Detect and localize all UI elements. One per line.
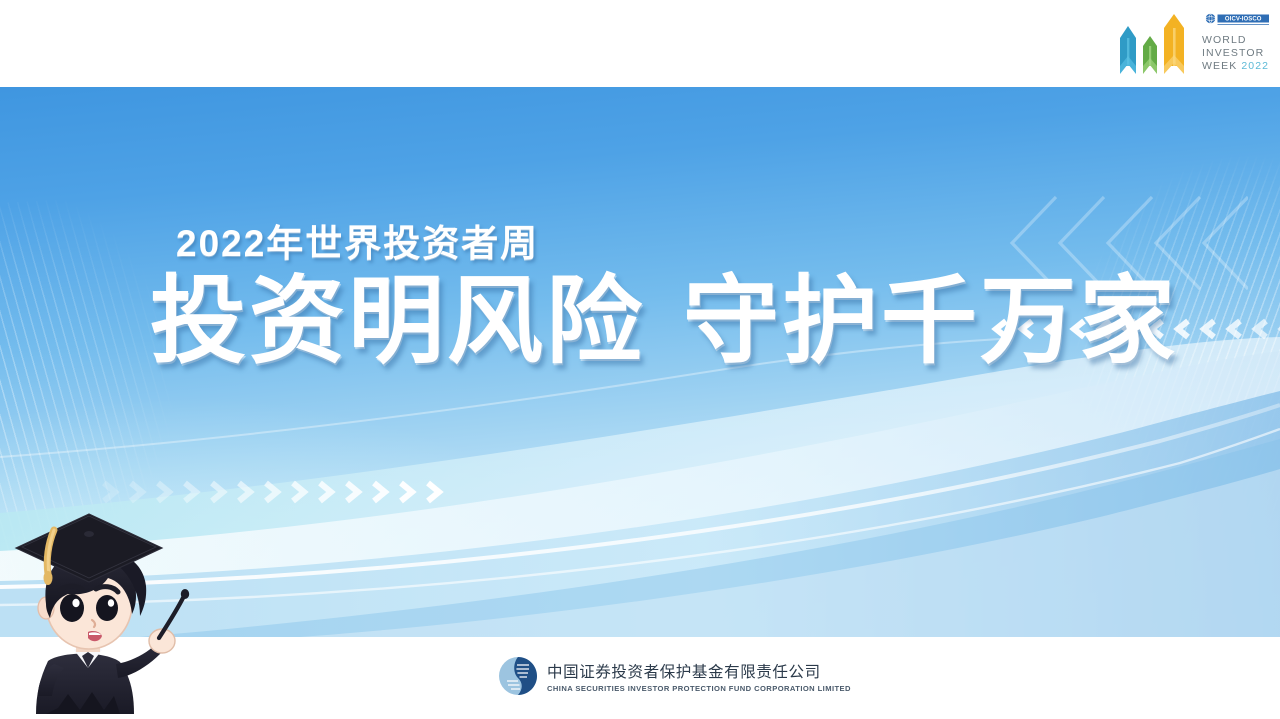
pencils-bar-chart-icon bbox=[1112, 12, 1198, 78]
chevron-right-icon bbox=[289, 479, 311, 505]
poster-kicker-text: 2022年世界投资者周 bbox=[176, 213, 539, 267]
wiw-line-week-year: WEEK 2022 bbox=[1202, 60, 1269, 73]
chevron-right-icon bbox=[397, 479, 419, 505]
poster-headline: 投资明风险守护千万家 bbox=[150, 274, 1178, 370]
chevron-right-icon bbox=[316, 479, 338, 505]
sipf-name-english: CHINA SECURITIES INVESTOR PROTECTION FUN… bbox=[547, 684, 851, 693]
chevron-left-icon bbox=[1276, 317, 1280, 341]
wiw-week-text: WEEK bbox=[1202, 60, 1237, 72]
chevron-left-icon bbox=[1250, 317, 1271, 341]
wiw-line-world: WORLD bbox=[1202, 34, 1269, 47]
iosco-label-text: OICV-IOSCO bbox=[1225, 17, 1262, 23]
wiw-year-text: 2022 bbox=[1241, 60, 1269, 72]
headline-part-2: 守护千万家 bbox=[683, 268, 1178, 375]
pencil-yellow bbox=[1164, 14, 1184, 74]
chevron-right-icon bbox=[343, 479, 365, 505]
pencil-blue bbox=[1120, 26, 1136, 74]
poster-slide: 2022年世界投资者周 投资明风险守护千万家 bbox=[0, 0, 1280, 719]
pencil-green bbox=[1143, 36, 1157, 74]
wiw-line-investor: INVESTOR bbox=[1202, 47, 1269, 60]
sipf-footer-logo: 中国证券投资者保护基金有限责任公司 CHINA SECURITIES INVES… bbox=[498, 654, 798, 698]
sipf-circular-mark-icon bbox=[498, 656, 538, 696]
chevron-right-icon bbox=[262, 479, 284, 505]
world-investor-week-wordmark: WORLD INVESTOR WEEK 2022 bbox=[1202, 34, 1269, 72]
sipf-name-block: 中国证券投资者保护基金有限责任公司 CHINA SECURITIES INVES… bbox=[547, 660, 851, 693]
chevron-right-icon bbox=[424, 479, 446, 505]
mascot-graduate-character bbox=[0, 486, 211, 719]
iosco-badge-icon: OICV-IOSCO bbox=[1204, 13, 1270, 28]
chevron-left-icon bbox=[1198, 317, 1219, 341]
chevron-right-icon bbox=[208, 479, 230, 505]
top-white-bar bbox=[0, 0, 1280, 87]
chevron-right-icon bbox=[370, 479, 392, 505]
headline-part-1: 投资明风险 bbox=[150, 268, 645, 375]
sipf-name-chinese: 中国证券投资者保护基金有限责任公司 bbox=[547, 660, 851, 682]
world-investor-week-logo: OICV-IOSCO bbox=[1104, 4, 1274, 84]
chevron-left-icon bbox=[1224, 317, 1245, 341]
chevron-right-icon bbox=[235, 479, 257, 505]
